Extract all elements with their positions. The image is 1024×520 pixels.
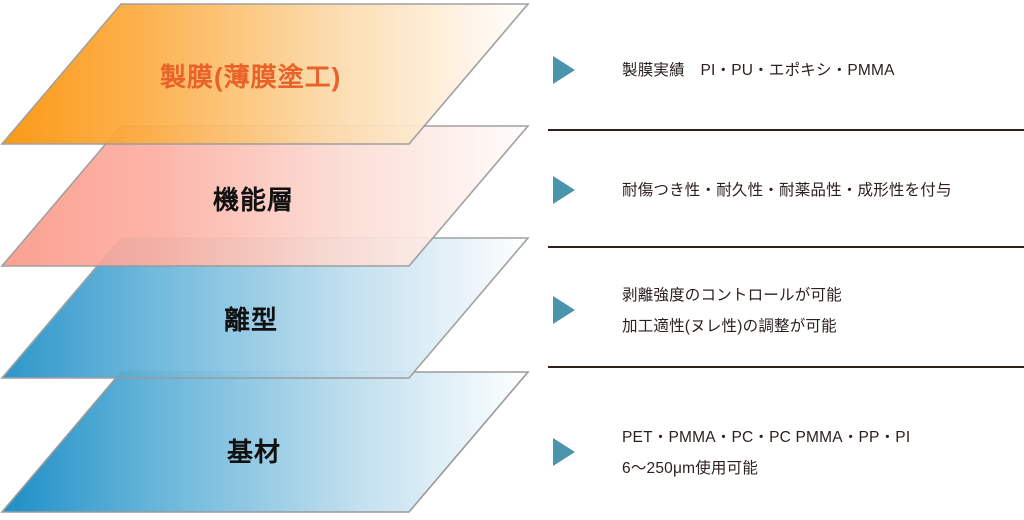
annotation-panel: 製膜実績 PI・PU・エポキシ・PMMA 耐傷つき性・耐久性・耐薬品性・成形性を… xyxy=(545,0,1024,520)
annotation-row-release: 剥離強度のコントロールが可能 加工適性(ヌレ性)の調整が可能 xyxy=(545,247,1024,367)
annotation-row-substrate: PET・PMMA・PC・PC PMMA・PP・PI 6〜250μm使用可能 xyxy=(545,367,1024,520)
layer-shape-substrate xyxy=(2,372,528,512)
annotation-line: 加工適性(ヌレ性)の調整が可能 xyxy=(622,311,842,342)
annotation-row-coating: 製膜実績 PI・PU・エポキシ・PMMA xyxy=(545,0,1024,130)
annotation-line: 耐傷つき性・耐久性・耐薬品性・成形性を付与 xyxy=(622,175,952,206)
annotation-line: PET・PMMA・PC・PC PMMA・PP・PI xyxy=(622,422,910,453)
annotation-text-functional: 耐傷つき性・耐久性・耐薬品性・成形性を付与 xyxy=(622,175,952,206)
triangle-bullet-icon xyxy=(553,296,575,324)
triangle-bullet-icon xyxy=(553,438,575,466)
triangle-bullet-icon xyxy=(553,176,575,204)
layer-shape-coating xyxy=(2,4,528,144)
layer-stack: 製膜(薄膜塗工) 機能層 離型 基材 xyxy=(0,0,545,520)
annotation-line: 製膜実績 PI・PU・エポキシ・PMMA xyxy=(622,55,895,86)
annotation-line: 6〜250μm使用可能 xyxy=(622,453,910,484)
annotation-row-functional: 耐傷つき性・耐久性・耐薬品性・成形性を付与 xyxy=(545,130,1024,247)
diagram-canvas: 製膜(薄膜塗工) 機能層 離型 基材 製膜実績 PI・PU・エポキシ・PMMA … xyxy=(0,0,1024,520)
annotation-text-substrate: PET・PMMA・PC・PC PMMA・PP・PI 6〜250μm使用可能 xyxy=(622,422,910,484)
annotation-text-release: 剥離強度のコントロールが可能 加工適性(ヌレ性)の調整が可能 xyxy=(622,280,842,342)
layer-stack-svg xyxy=(0,0,545,520)
annotation-text-coating: 製膜実績 PI・PU・エポキシ・PMMA xyxy=(622,55,895,86)
annotation-line: 剥離強度のコントロールが可能 xyxy=(622,280,842,311)
triangle-bullet-icon xyxy=(553,56,575,84)
